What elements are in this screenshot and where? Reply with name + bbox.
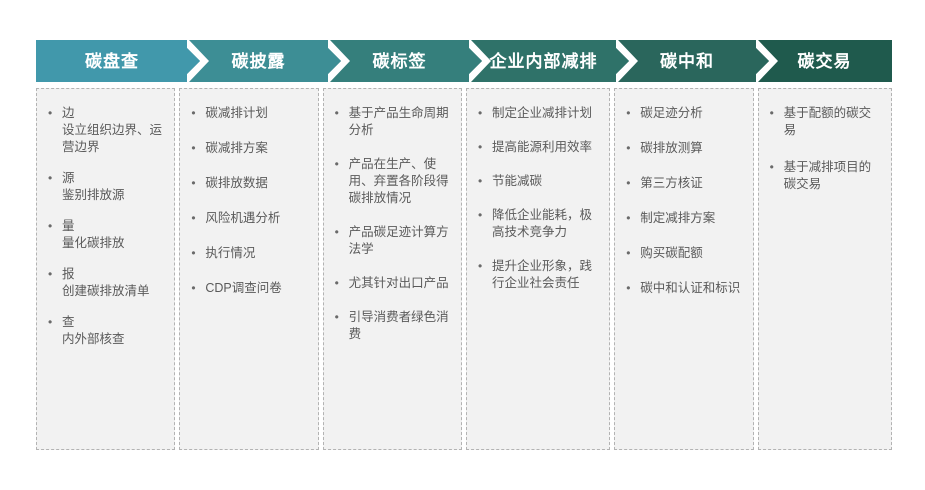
list-item-label: 制定减排方案 <box>640 211 715 225</box>
stage-panel-carbon-trading: 基于配额的碳交易 基于减排项目的碳交易 <box>758 88 892 450</box>
list-item-detail: 鉴别排放源 <box>62 187 164 204</box>
list-item-label: 提升企业形象，践行企业社会责任 <box>492 259 592 290</box>
list-item-label: 节能减碳 <box>492 174 542 188</box>
list-item: 碳排放数据 <box>188 175 307 192</box>
list-item: 尤其针对出口产品 <box>332 275 451 292</box>
list-item: 产品在生产、使用、弃置各阶段得碳排放情况 <box>332 156 451 207</box>
chevron-header-carbon-label[interactable]: 碳标签 <box>329 40 470 82</box>
list-item-label: 碳减排方案 <box>205 141 268 155</box>
list-item: 制定企业减排计划 <box>475 105 599 122</box>
list-item: 基于配额的碳交易 <box>767 105 881 139</box>
list-item-label: 基于配额的碳交易 <box>784 106 872 137</box>
stage-panel-carbon-neutral: 碳足迹分析 碳排放测算 第三方核证 制定减排方案 购买碳配额 碳中和认证和标识 <box>614 88 753 450</box>
bullet-list-carbon-neutral: 碳足迹分析 碳排放测算 第三方核证 制定减排方案 购买碳配额 碳中和认证和标识 <box>623 105 742 297</box>
bullet-list-carbon-inventory: 边 设立组织边界、运营边界 源 鉴别排放源 量 量化碳排放 报 创建碳排放清单 … <box>45 105 164 348</box>
stage-panel-carbon-label: 基于产品生命周期分析 产品在生产、使用、弃置各阶段得碳排放情况 产品碳足迹计算方… <box>323 88 462 450</box>
list-item-label: 提高能源利用效率 <box>492 140 592 154</box>
chevron-arrow-icon-5 <box>756 40 778 82</box>
list-item: 碳中和认证和标识 <box>623 280 742 297</box>
list-item: 执行情况 <box>188 245 307 262</box>
list-item-detail: 设立组织边界、运营边界 <box>62 122 164 156</box>
chevron-header-carbon-disclosure[interactable]: 碳披露 <box>188 40 329 82</box>
list-item-label: 碳减排计划 <box>205 106 268 120</box>
list-item-label: 基于减排项目的碳交易 <box>784 160 872 191</box>
list-item: 购买碳配额 <box>623 245 742 262</box>
chevron-header-carbon-trading[interactable]: 碳交易 <box>757 40 892 82</box>
list-item-label: 降低企业能耗，极高技术竞争力 <box>492 208 592 239</box>
list-item: 基于减排项目的碳交易 <box>767 159 881 193</box>
chevron-arrow-icon-1 <box>187 40 209 82</box>
bullet-list-carbon-disclosure: 碳减排计划 碳减排方案 碳排放数据 风险机遇分析 执行情况 CDP调查问卷 <box>188 105 307 297</box>
chevron-title-carbon-inventory: 碳盘查 <box>85 53 139 70</box>
bullet-list-internal-reduction: 制定企业减排计划 提高能源利用效率 节能减碳 降低企业能耗，极高技术竞争力 提升… <box>475 105 599 292</box>
list-item: 碳减排方案 <box>188 140 307 157</box>
list-item: 查 内外部核查 <box>45 314 164 348</box>
list-item: 源 鉴别排放源 <box>45 170 164 204</box>
chevron-header-internal-reduction[interactable]: 企业内部减排 <box>470 40 617 82</box>
list-item: 基于产品生命周期分析 <box>332 105 451 139</box>
chevron-arrow-icon-2 <box>328 40 350 82</box>
list-item: 碳足迹分析 <box>623 105 742 122</box>
list-item: 降低企业能耗，极高技术竞争力 <box>475 207 599 241</box>
chevron-arrow-icon-4 <box>616 40 638 82</box>
list-item-label: 引导消费者绿色消费 <box>349 310 449 341</box>
list-item: 提高能源利用效率 <box>475 139 599 156</box>
chevron-header-carbon-inventory[interactable]: 碳盘查 <box>36 40 188 82</box>
list-item-label: 产品在生产、使用、弃置各阶段得碳排放情况 <box>349 157 449 205</box>
chevron-header-carbon-neutral[interactable]: 碳中和 <box>617 40 757 82</box>
list-item-label: 碳排放测算 <box>640 141 703 155</box>
list-item-label: 量 <box>62 219 75 233</box>
list-item-detail: 量化碳排放 <box>62 235 164 252</box>
chevron-arrow-icon-3 <box>469 40 491 82</box>
list-item-label: 碳足迹分析 <box>640 106 703 120</box>
list-item-label: 购买碳配额 <box>640 246 703 260</box>
list-item: 报 创建碳排放清单 <box>45 266 164 300</box>
list-item: 边 设立组织边界、运营边界 <box>45 105 164 156</box>
list-item-label: 制定企业减排计划 <box>492 106 592 120</box>
chevron-title-carbon-neutral: 碳中和 <box>660 53 714 70</box>
list-item-label: 碳中和认证和标识 <box>640 281 740 295</box>
list-item-label: 产品碳足迹计算方法学 <box>349 225 449 256</box>
process-flow-diagram: 碳盘查 碳披露 碳标签 企业内部减排 <box>36 40 892 450</box>
chevron-header-row: 碳盘查 碳披露 碳标签 企业内部减排 <box>36 40 892 82</box>
chevron-title-carbon-label: 碳标签 <box>373 53 427 70</box>
list-item: 节能减碳 <box>475 173 599 190</box>
list-item-label: 查 <box>62 315 75 329</box>
list-item: 引导消费者绿色消费 <box>332 309 451 343</box>
list-item-label: 报 <box>62 267 75 281</box>
list-item-detail: 内外部核查 <box>62 331 164 348</box>
list-item-label: 碳排放数据 <box>205 176 268 190</box>
list-item-label: 基于产品生命周期分析 <box>349 106 449 137</box>
bullet-list-carbon-label: 基于产品生命周期分析 产品在生产、使用、弃置各阶段得碳排放情况 产品碳足迹计算方… <box>332 105 451 343</box>
list-item: 风险机遇分析 <box>188 210 307 227</box>
chevron-title-carbon-disclosure: 碳披露 <box>232 53 286 70</box>
list-item-label: 执行情况 <box>205 246 255 260</box>
list-item: 第三方核证 <box>623 175 742 192</box>
stage-panel-carbon-inventory: 边 设立组织边界、运营边界 源 鉴别排放源 量 量化碳排放 报 创建碳排放清单 … <box>36 88 175 450</box>
list-item: 制定减排方案 <box>623 210 742 227</box>
list-item: 碳排放测算 <box>623 140 742 157</box>
list-item-label: 尤其针对出口产品 <box>349 276 449 290</box>
stage-panels-row: 边 设立组织边界、运营边界 源 鉴别排放源 量 量化碳排放 报 创建碳排放清单 … <box>36 88 892 450</box>
list-item: CDP调查问卷 <box>188 280 307 297</box>
stage-panel-carbon-disclosure: 碳减排计划 碳减排方案 碳排放数据 风险机遇分析 执行情况 CDP调查问卷 <box>179 88 318 450</box>
list-item-label: 风险机遇分析 <box>205 211 280 225</box>
list-item-label: 第三方核证 <box>640 176 703 190</box>
chevron-title-internal-reduction: 企业内部减排 <box>490 53 598 70</box>
stage-panel-internal-reduction: 制定企业减排计划 提高能源利用效率 节能减碳 降低企业能耗，极高技术竞争力 提升… <box>466 88 610 450</box>
bullet-list-carbon-trading: 基于配额的碳交易 基于减排项目的碳交易 <box>767 105 881 193</box>
list-item: 产品碳足迹计算方法学 <box>332 224 451 258</box>
chevron-title-carbon-trading: 碳交易 <box>798 53 852 70</box>
list-item: 量 量化碳排放 <box>45 218 164 252</box>
list-item: 提升企业形象，践行企业社会责任 <box>475 258 599 292</box>
list-item-detail: 创建碳排放清单 <box>62 283 164 300</box>
list-item-label: CDP调查问卷 <box>205 281 281 295</box>
list-item: 碳减排计划 <box>188 105 307 122</box>
list-item-label: 源 <box>62 171 75 185</box>
list-item-label: 边 <box>62 106 75 120</box>
